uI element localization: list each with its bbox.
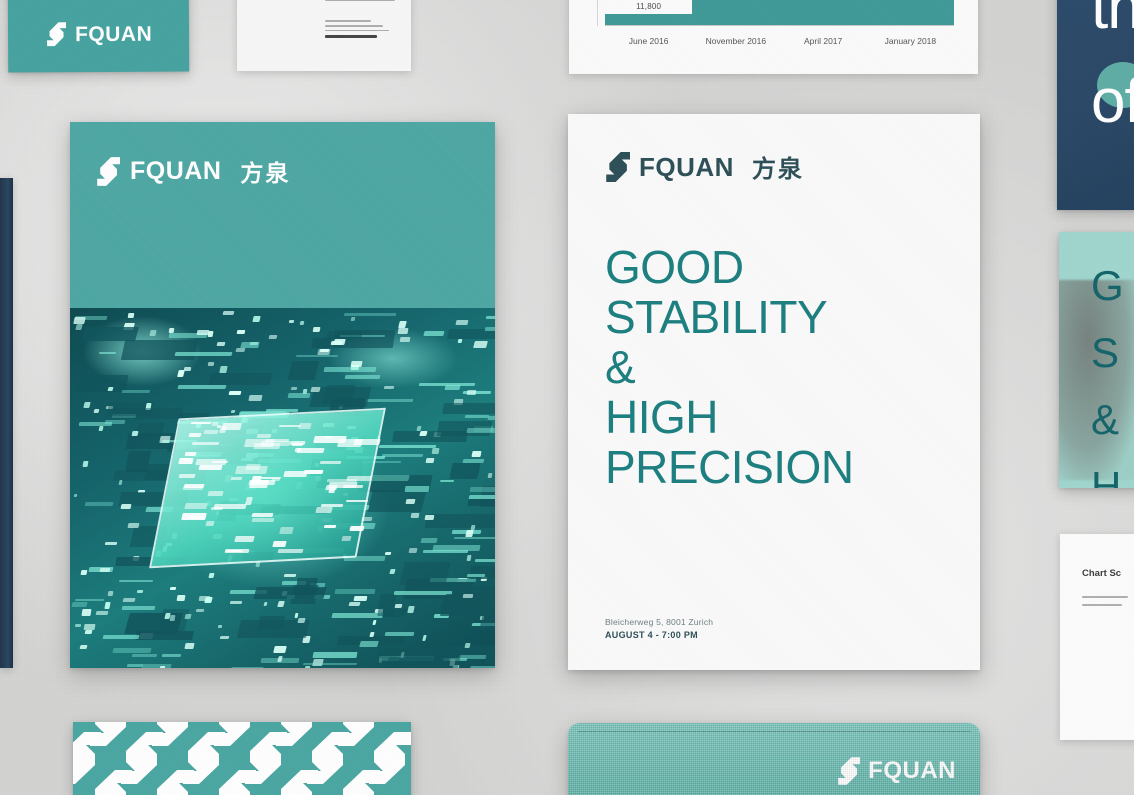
mint-headline-line: H [1091,453,1123,488]
headline-line: GOOD [605,242,958,292]
logo-lockup: FQUAN 方泉 [605,149,804,184]
chart-x-label: June 2016 [605,36,692,46]
fabric-pouch: FQUAN [568,723,980,795]
chart-bar-column: 34,000 [692,0,779,25]
chart-bar-column [867,0,954,25]
poster-mint: GS&HP [1059,232,1134,488]
chart-x-label: November 2016 [692,36,779,46]
pattern-card [73,722,411,795]
report-subline-2 [1082,604,1122,606]
bc-contact-block [325,20,399,41]
brochure-header: FQUAN 方泉 [70,122,495,308]
logo-lockup: FQUAN [837,757,956,785]
report-subline-1 [1082,596,1128,598]
bar-chart: 11,80034,000 June 2016November 2016April… [583,0,964,52]
wordmark-cn: 方泉 [752,149,804,184]
business-card-teal: FQUAN [8,0,189,72]
event-poster: FQUAN 方泉 GOODSTABILITY&HIGHPRECISION Ble… [568,114,980,670]
headline-line: PRECISION [605,442,958,492]
chart-bars: 11,80034,000 [605,0,954,26]
chart-bar-column [780,0,867,25]
mint-headline-line: & [1091,386,1123,453]
fquan-logo-mark-icon [605,152,630,182]
mint-headline-line: G [1091,252,1123,319]
chart-x-labels: June 2016November 2016April 2017January … [605,36,954,46]
mint-poster-headline: GS&HP [1091,252,1123,488]
headline-line: STABILITY [605,292,958,342]
brochure-cover: FQUAN 方泉 [70,122,495,668]
chart-bar [692,0,779,25]
report-card-white: Chart Sc [1060,534,1134,740]
headline-line: & [605,342,958,392]
edge-card-navy-sliver [0,178,13,668]
mint-headline-line: S [1091,319,1123,386]
navy-text-top: th [1091,0,1134,40]
report-title: Chart Sc [1082,568,1121,579]
poster-datetime: AUGUST 4 - 7:00 PM [605,630,713,640]
wordmark: FQUAN [639,154,734,180]
chart-bar [867,0,954,25]
fquan-logo-mark-icon [96,157,120,186]
logo-lockup: FQUAN [46,22,189,47]
stitch-line [577,731,971,732]
business-card-white [237,0,411,71]
mockup-canvas: FQUAN 11,80034,000 June 2016November 201… [0,0,1134,795]
wordmark-cn: 方泉 [240,154,290,188]
circuit-board-image [70,308,495,668]
chart-bar [605,14,692,25]
fquan-logo-mark-icon [837,757,860,785]
wordmark: FQUAN [868,759,956,783]
chart-bar [780,0,867,25]
chart-bar-column: 11,800 [605,0,692,25]
report-card-chart: 11,80034,000 June 2016November 2016April… [569,0,978,74]
wordmark: FQUAN [130,159,221,184]
bc-name-block [325,0,399,4]
navy-text-bottom: of [1091,70,1134,134]
headline-line: HIGH [605,392,958,442]
chart-y-axis [597,0,598,26]
fquan-logo-mark-icon [46,22,66,46]
poster-address: Bleicherweg 5, 8001 Zurich [605,617,713,627]
poster-footer: Bleicherweg 5, 8001 Zurich AUGUST 4 - 7:… [605,617,713,640]
logo-lockup: FQUAN 方泉 [96,154,290,188]
fquan-pattern-icon [73,722,411,795]
poster-navy: th of [1057,0,1134,210]
chart-bar-value: 11,800 [636,2,661,11]
chart-x-label: April 2017 [780,36,867,46]
chart-x-label: January 2018 [867,36,954,46]
wordmark: FQUAN [75,23,152,44]
poster-headline: GOODSTABILITY&HIGHPRECISION [605,242,958,492]
